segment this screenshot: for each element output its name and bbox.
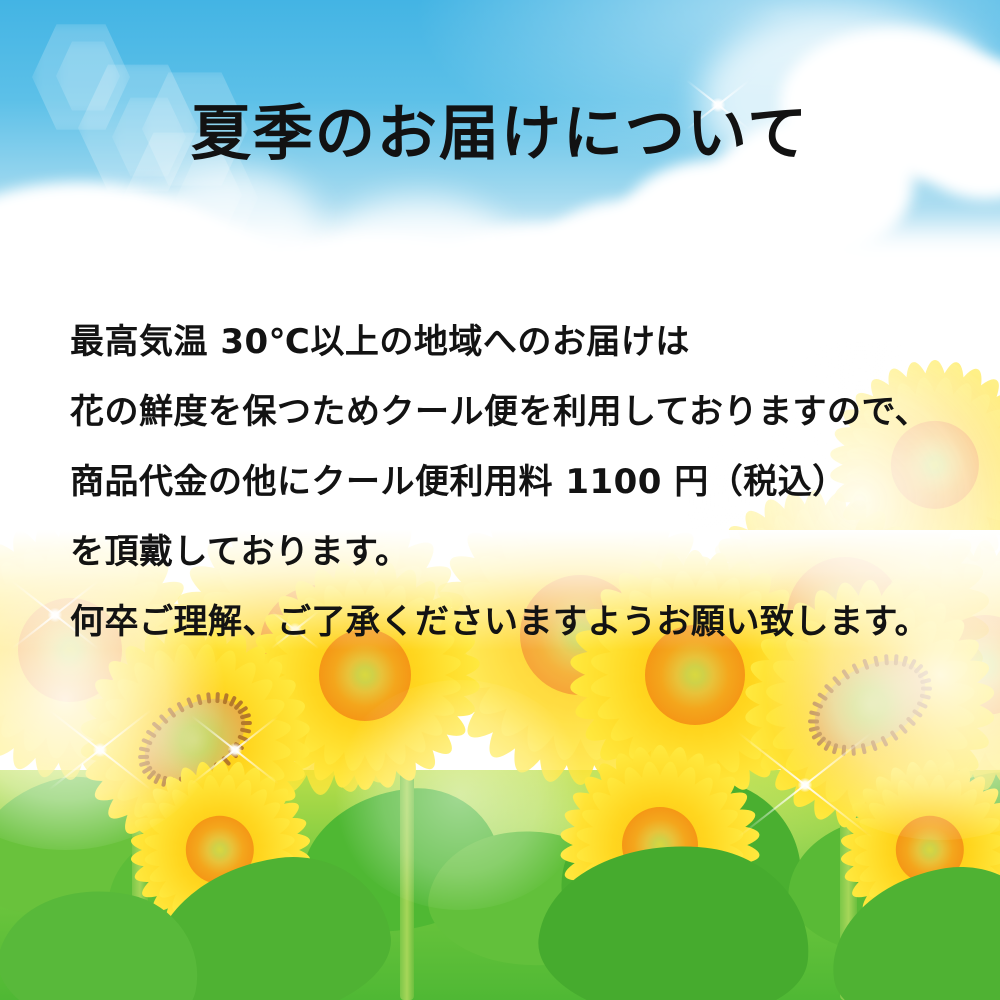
- sunflower-seed: [206, 692, 211, 703]
- sunflower-seed: [145, 729, 156, 738]
- notice-line: 何卒ご理解、ご了承くださいますようお願い致します。: [70, 587, 970, 657]
- sunflower-seed: [196, 694, 203, 706]
- sunflower-seed: [167, 707, 177, 718]
- sunflower-seed: [920, 678, 932, 684]
- sunflower-seed: [808, 719, 819, 723]
- sunflower-seed: [812, 701, 824, 709]
- sunflower-seed: [841, 669, 850, 680]
- sunflower-seed: [186, 697, 194, 709]
- sunflower-seed: [870, 740, 877, 752]
- sunflower-seed: [159, 714, 169, 725]
- sunflower-seed: [906, 716, 917, 726]
- sunflower-seed: [141, 738, 153, 746]
- sunflower-seed: [901, 655, 908, 667]
- sunflower-seed: [912, 709, 923, 719]
- sunflower-seed: [240, 713, 252, 720]
- sunflower-seed: [832, 743, 839, 755]
- sunflower-seed: [889, 730, 898, 741]
- sunflower-seed: [916, 701, 928, 709]
- sunflower-seed: [873, 656, 879, 668]
- sunflower-seed: [841, 745, 846, 756]
- sunflower-seed: [824, 683, 835, 693]
- summer-delivery-notice-poster: 夏季のお届けについて 最高気温 30℃以上の地域へのお届けは 花の鮮度を保つため…: [0, 0, 1000, 1000]
- sunflower-seed: [817, 692, 828, 702]
- sunflower-seed: [215, 692, 220, 703]
- page-title: 夏季のお届けについて: [0, 104, 1000, 164]
- sunflower-seed: [832, 676, 842, 687]
- sunflower-seed: [862, 658, 869, 670]
- sunflower-seed: [919, 693, 931, 700]
- sunflower-seed: [233, 741, 244, 750]
- sunflower-seed: [240, 727, 252, 733]
- sunflower-seed: [176, 701, 185, 713]
- notice-line: を頂戴しております。: [70, 517, 970, 587]
- notice-line: 花の鮮度を保つためクール便を利用しておりますので、: [70, 377, 970, 447]
- sunflower-seed: [151, 721, 162, 731]
- sunflower-seed: [139, 746, 151, 752]
- notice-line: 最高気温 30℃以上の地域へのお届けは: [70, 307, 970, 377]
- notice-line: 商品代金の他にクール便利用料 1100 円（税込）: [70, 447, 970, 517]
- sunflower-seed: [138, 755, 149, 759]
- notice-body: 最高気温 30℃以上の地域へのお届けは 花の鮮度を保つためクール便を利用しており…: [70, 307, 970, 657]
- sunflower-seed: [851, 745, 856, 756]
- sunflower-seed: [228, 749, 239, 759]
- sunflower-seed: [237, 734, 249, 742]
- sunflower-seed: [851, 663, 860, 675]
- sunflower-seed: [241, 721, 252, 725]
- cloud-layer: [0, 0, 1000, 360]
- sunflower-seed: [823, 740, 832, 752]
- sunflower-seed: [861, 743, 867, 755]
- cloud-icon: [150, 170, 320, 280]
- stem: [400, 765, 414, 1000]
- sunflower-seed: [222, 693, 228, 705]
- sunflower-seed: [921, 686, 932, 690]
- sunflower-seed: [880, 735, 889, 747]
- cloud-icon: [330, 196, 510, 306]
- sunflower-seed: [809, 710, 821, 717]
- sunflower-seed: [898, 723, 908, 734]
